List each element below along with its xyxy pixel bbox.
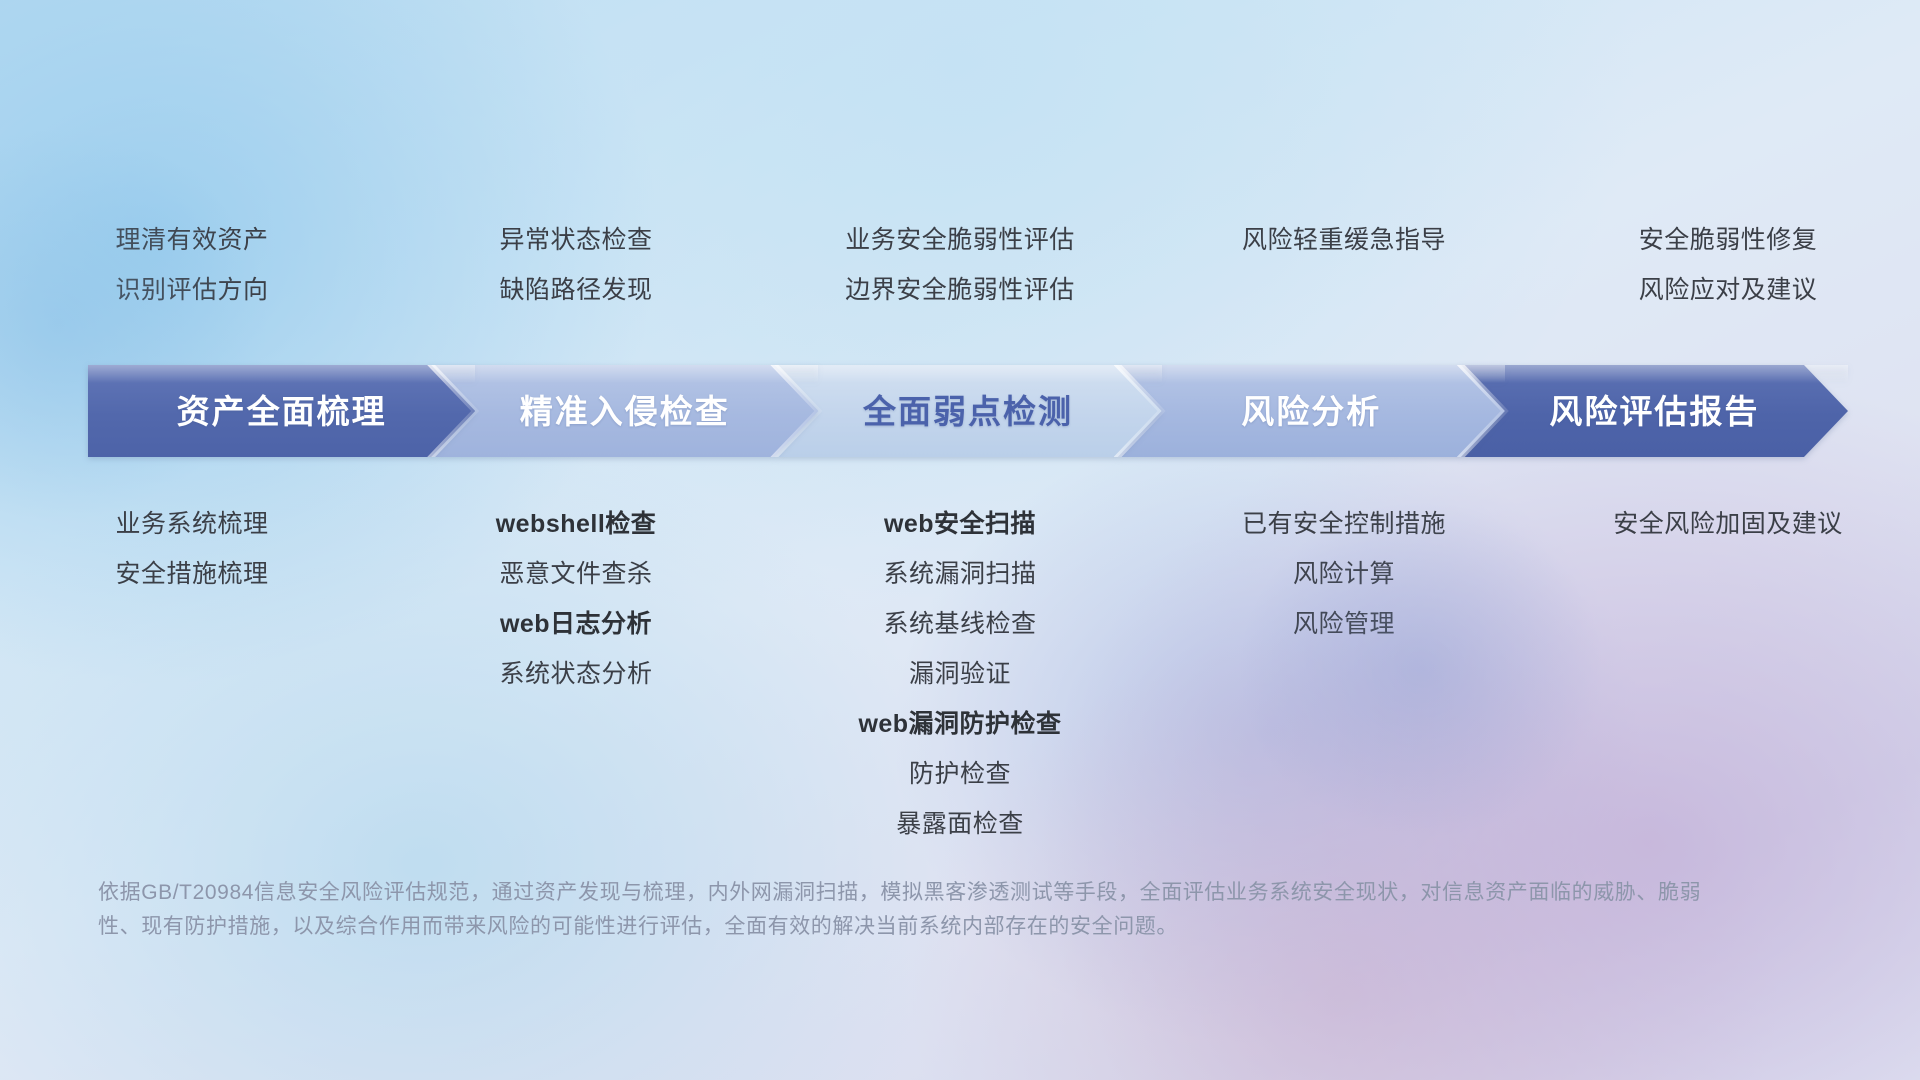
note-item: 识别评估方向 — [115, 278, 268, 303]
note-item: 安全风险加固及建议 — [1613, 512, 1843, 537]
note-item: 安全措施梳理 — [115, 562, 268, 587]
note-item: 安全脆弱性修复 — [1639, 228, 1818, 253]
note-item: 系统漏洞扫描 — [883, 562, 1036, 587]
process-step-label: 风险分析 — [1241, 395, 1381, 428]
note-item: 风险计算 — [1293, 562, 1395, 587]
process-step-label: 资产全面梳理 — [177, 395, 387, 428]
note-item: 风险管理 — [1293, 612, 1395, 637]
process-step-asset-inventory[interactable]: 资产全面梳理 — [88, 365, 475, 457]
note-item: 暴露面检查 — [896, 812, 1024, 837]
process-step-risk-analysis[interactable]: 风险分析 — [1118, 365, 1505, 457]
top-notes-asset-inventory: 理清有效资产识别评估方向 — [0, 228, 384, 303]
top-notes-intrusion-check: 异常状态检查缺陷路径发现 — [384, 228, 768, 303]
process-step-label: 精准入侵检查 — [520, 395, 730, 428]
bottom-notes-intrusion-check: webshell检查恶意文件查杀web日志分析系统状态分析 — [384, 512, 768, 837]
bottom-notes-weakness-detection: web安全扫描系统漏洞扫描系统基线检查漏洞验证web漏洞防护检查防护检查暴露面检… — [768, 512, 1152, 837]
note-item: 防护检查 — [909, 762, 1011, 787]
bottom-notes-row: 业务系统梳理安全措施梳理webshell检查恶意文件查杀web日志分析系统状态分… — [0, 512, 1920, 837]
bottom-notes-risk-report: 安全风险加固及建议 — [1536, 512, 1920, 837]
bottom-notes-risk-analysis: 已有安全控制措施风险计算风险管理 — [1152, 512, 1536, 837]
note-item: 理清有效资产 — [115, 228, 268, 253]
note-item: 漏洞验证 — [909, 662, 1011, 687]
process-step-intrusion-check[interactable]: 精准入侵检查 — [431, 365, 818, 457]
slide-canvas: 理清有效资产识别评估方向异常状态检查缺陷路径发现业务安全脆弱性评估边界安全脆弱性… — [0, 0, 1920, 1080]
process-step-label: 全面弱点检测 — [863, 395, 1073, 428]
note-item: 风险轻重缓急指导 — [1242, 228, 1446, 253]
note-item: 缺陷路径发现 — [499, 278, 652, 303]
note-item: 异常状态检查 — [499, 228, 652, 253]
note-item: 恶意文件查杀 — [499, 562, 652, 587]
note-item: 已有安全控制措施 — [1242, 512, 1446, 537]
note-item: web安全扫描 — [884, 512, 1036, 537]
note-item: 系统基线检查 — [883, 612, 1036, 637]
top-notes-risk-report: 安全脆弱性修复风险应对及建议 — [1536, 228, 1920, 303]
note-item: 风险应对及建议 — [1639, 278, 1818, 303]
note-item: web日志分析 — [500, 612, 652, 637]
process-step-weakness-detection[interactable]: 全面弱点检测 — [774, 365, 1161, 457]
note-item: 业务安全脆弱性评估 — [845, 228, 1075, 253]
bottom-notes-asset-inventory: 业务系统梳理安全措施梳理 — [0, 512, 384, 837]
process-arrow-band: 资产全面梳理精准入侵检查全面弱点检测风险分析风险评估报告 — [88, 365, 1848, 457]
process-step-label: 风险评估报告 — [1549, 395, 1759, 428]
note-item: 业务系统梳理 — [115, 512, 268, 537]
top-notes-weakness-detection: 业务安全脆弱性评估边界安全脆弱性评估 — [768, 228, 1152, 303]
top-notes-risk-analysis: 风险轻重缓急指导 — [1152, 228, 1536, 303]
footer-description: 依据GB/T20984信息安全风险评估规范，通过资产发现与梳理，内外网漏洞扫描，… — [98, 876, 1738, 944]
note-item: 边界安全脆弱性评估 — [845, 278, 1075, 303]
process-step-risk-report[interactable]: 风险评估报告 — [1461, 365, 1848, 457]
note-item: 系统状态分析 — [499, 662, 652, 687]
note-item: web漏洞防护检查 — [858, 712, 1061, 737]
note-item: webshell检查 — [496, 512, 657, 537]
top-notes-row: 理清有效资产识别评估方向异常状态检查缺陷路径发现业务安全脆弱性评估边界安全脆弱性… — [0, 228, 1920, 303]
